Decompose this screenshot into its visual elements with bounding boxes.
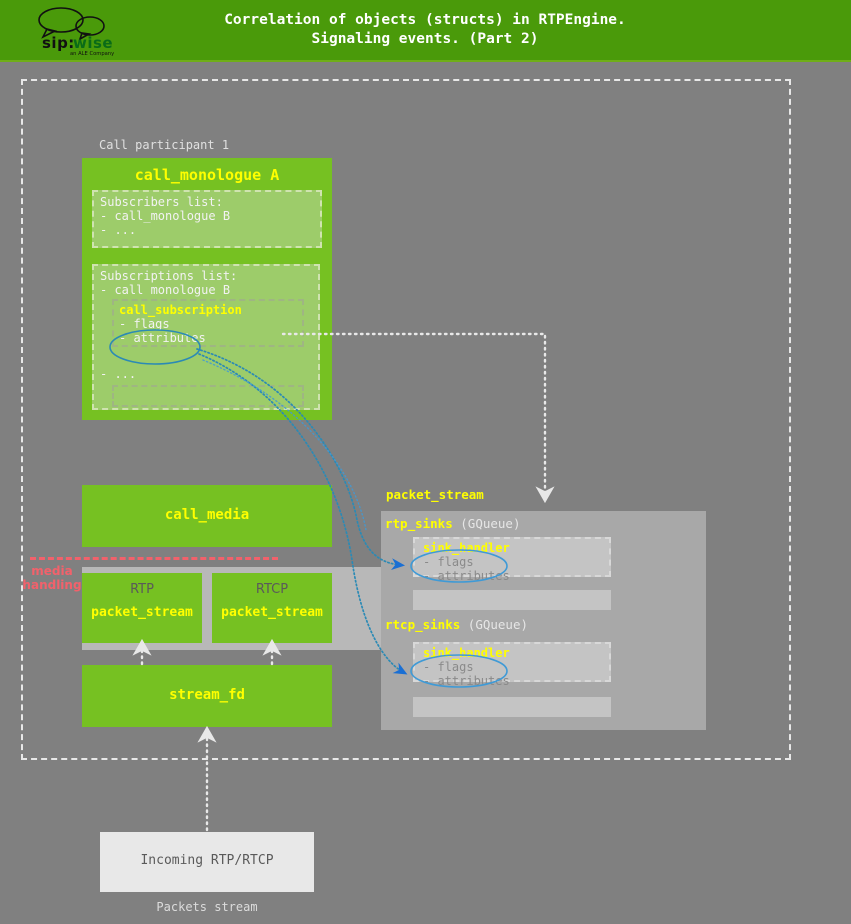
rtp-sinks-name: rtp_sinks [385,516,453,531]
call-monologue-a-box: call_monologue A Subscribers list: - cal… [82,158,332,420]
media-handling-line-2: handling [22,578,82,592]
rtcp-sink-handler-flags: - flags [423,660,474,674]
title-line-2: Signaling events. (Part 2) [150,30,700,49]
packets-stream-label: Packets stream [100,900,314,914]
rtcp-label: packet_stream [212,605,332,620]
call-subscription-placeholder-box [112,385,304,407]
rtp-sinks-type: (GQueue) [460,516,520,531]
rtp-caption: RTP [82,582,202,597]
rtcp-sink-handler-box: sink_handler - flags - attributes [413,642,611,682]
rtcp-sinks-type: (GQueue) [468,617,528,632]
page-header: sip: wise an ALE Company Correlation of … [0,0,851,62]
rtcp-sink-handler-attributes: - attributes [423,674,510,688]
subscribers-item-1: - ... [100,223,136,237]
media-handling-label: media handling [22,564,82,592]
stream-fd-title: stream_fd [82,687,332,703]
svg-text:sip:: sip: [42,34,75,52]
media-handling-line-1: media [22,564,82,578]
subscribers-item-0: - call_monologue B [100,209,230,223]
call-subscription-field-flags: - flags [119,317,170,331]
call-subscription-field-attributes: - attributes [119,331,206,345]
subscriptions-item-0: - call monologue B [100,283,230,297]
incoming-label: Incoming RTP/RTCP [100,853,314,868]
packet-stream-caption: packet_stream [386,487,484,502]
incoming-rtp-rtcp-box: Incoming RTP/RTCP [100,832,314,892]
subscribers-heading: Subscribers list: [100,195,223,209]
packet-stream-panel: rtp_sinks (GQueue) sink_handler - flags … [381,511,706,730]
rtp-label: packet_stream [82,605,202,620]
svg-text:an ALE Company: an ALE Company [70,51,114,56]
title-line-1: Correlation of objects (structs) in RTPE… [150,11,700,30]
rtcp-packet-stream-box: RTCP packet_stream [212,573,332,643]
rtcp-sink-handler-title: sink_handler [423,646,510,660]
sipwise-logo: sip: wise an ALE Company [30,4,130,56]
rtp-sink-handler-title: sink_handler [423,541,510,555]
rtp-sink-handler-box: sink_handler - flags - attributes [413,537,611,577]
media-handling-divider [30,557,278,560]
page-title: Correlation of objects (structs) in RTPE… [150,11,700,49]
subscriptions-heading: Subscriptions list: [100,269,237,283]
stream-fd-box: stream_fd [82,665,332,727]
call-media-box: call_media [82,485,332,547]
rtcp-sinks-heading: rtcp_sinks (GQueue) [385,617,528,632]
rtp-packet-stream-box: RTP packet_stream [82,573,202,643]
call-subscription-box: call_subscription - flags - attributes [112,299,304,347]
diagram-canvas: sip: wise an ALE Company Correlation of … [0,0,851,924]
call-participant-label: Call participant 1 [99,138,229,152]
rtcp-sinks-name: rtcp_sinks [385,617,460,632]
subscriptions-list-box: Subscriptions list: - call monologue B c… [92,264,320,410]
rtp-sink-handler-flags: - flags [423,555,474,569]
rtp-sink-handler-attributes: - attributes [423,569,510,583]
call-media-title: call_media [82,507,332,523]
subscriptions-ellipsis: - ... [100,367,136,381]
rtcp-sink-handler-placeholder [413,697,611,717]
rtp-sink-handler-placeholder [413,590,611,610]
call-subscription-title: call_subscription [119,303,242,317]
rtcp-caption: RTCP [212,582,332,597]
svg-text:wise: wise [73,34,113,52]
subscribers-list-box: Subscribers list: - call_monologue B - .… [92,190,322,248]
call-monologue-a-title: call_monologue A [82,166,332,184]
rtp-sinks-heading: rtp_sinks (GQueue) [385,516,520,531]
